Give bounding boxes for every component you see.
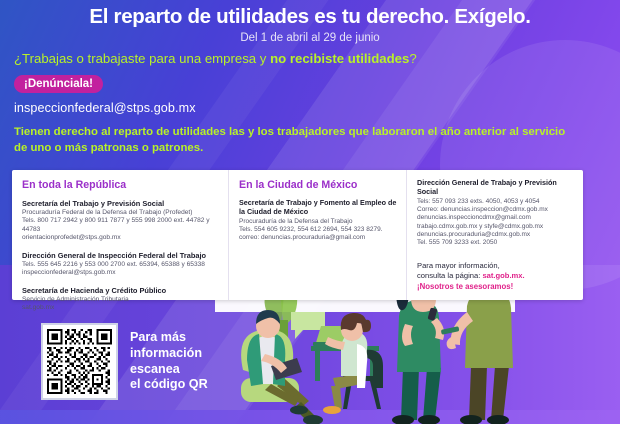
question-end: ?	[409, 51, 416, 66]
qr-line-2: información	[130, 346, 208, 362]
contacts-column-dgtps: Dirección General de Trabajo y Previsión…	[406, 170, 583, 300]
header: El reparto de utilidades es tu derecho. …	[0, 0, 620, 156]
more-info-line-1: Para mayor información,	[417, 261, 575, 271]
denunciala-badge[interactable]: ¡Denúnciala!	[14, 75, 103, 93]
date-range: Del 1 de abril al 29 de junio	[14, 32, 606, 44]
entry-line: Tels. 555 645 2216 y 553 000 2700 ext. 6…	[22, 261, 220, 269]
entry-website[interactable]: sat.gob.mx	[22, 304, 220, 312]
woman2-leg-left	[401, 368, 419, 420]
entry-line: Procuraduría Federal de la Defensa del T…	[22, 209, 220, 217]
contact-email[interactable]: inspeccionfederal@stps.gob.mx	[14, 101, 606, 115]
qr-code-svg	[47, 329, 112, 394]
entry-email[interactable]: inspeccionfederal@stps.gob.mx	[22, 269, 220, 277]
question-part1: ¿Trabajas o trabajaste para una empresa …	[14, 51, 270, 66]
more-info-cta: ¡Nosotros te asesoramos!	[417, 282, 575, 291]
contact-entry: Secretaría del Trabajo y Previsión Socia…	[22, 199, 220, 243]
more-info-line-2: consulta la página: sat.gob.mx.	[417, 271, 575, 281]
entry-line: Tels. 554 605 9232, 554 612 2694, 554 32…	[239, 226, 398, 234]
entry-email[interactable]: denuncias.inspeccioncdmx@gmail.com	[417, 214, 575, 222]
rights-statement: Tienen derecho al reparto de utilidades …	[14, 125, 574, 156]
question-line: ¿Trabajas o trabajaste para una empresa …	[14, 51, 606, 67]
entry-name: Secretaría de Hacienda y Crédito Público	[22, 286, 220, 295]
entry-name: Secretaría del Trabajo y Previsión Socia…	[22, 199, 220, 208]
poster-root: El reparto de utilidades es tu derecho. …	[0, 0, 620, 424]
contact-entry: Secretaría de Trabajo y Fomento al Emple…	[239, 199, 398, 243]
column-title-cdmx: En la Ciudad de México	[239, 179, 398, 191]
qr-line-3: escanea	[130, 362, 208, 378]
contacts-card: En toda la República Secretaría del Trab…	[12, 170, 583, 300]
more-info-link[interactable]: sat.gob.mx.	[482, 271, 524, 280]
entry-email[interactable]: correo: denuncias.procuraduria@gmail.com	[239, 234, 398, 242]
entry-name: Dirección General de Trabajo y Previsión…	[417, 179, 575, 197]
man1-shoe-2	[290, 406, 308, 415]
entry-email[interactable]: Correo: denuncias.inspeccion@cdmx.gob.mx	[417, 206, 575, 214]
contact-entry: Dirección General de Inspección Federal …	[22, 251, 220, 278]
entry-name: Secretaría de Trabajo y Fomento al Emple…	[239, 199, 398, 217]
contacts-column-cdmx: En la Ciudad de México Secretaría de Tra…	[228, 170, 406, 300]
more-info-block: Para mayor información, consulta la pági…	[417, 261, 575, 291]
entry-line: Tel. 555 709 3233 ext. 2050	[417, 239, 575, 247]
entry-email[interactable]: orientacionprofedet@stps.gob.mx	[22, 234, 220, 242]
qr-line-4: el código QR	[130, 377, 208, 393]
entry-email[interactable]: denuncias.procuraduria@cdmx.gob.mx	[417, 231, 575, 239]
qr-line-1: Para más	[130, 330, 208, 346]
more-info-prefix: consulta la página:	[417, 271, 482, 280]
contacts-column-republica: En toda la República Secretaría del Trab…	[12, 170, 228, 300]
entry-line: Tels. 800 717 2942 y 800 911 7877 y 555 …	[22, 217, 220, 234]
entry-email[interactable]: trabajo.cdmx.gob.mx y styfe@cdmx.gob.mx	[417, 223, 575, 231]
column-title-republica: En toda la República	[22, 179, 220, 191]
man2-shirt	[465, 288, 513, 368]
qr-block: Para más información escanea el código Q…	[41, 323, 208, 400]
question-bold: no recibiste utilidades	[270, 51, 409, 66]
contact-entry: Dirección General de Trabajo y Previsión…	[417, 179, 575, 247]
headline: El reparto de utilidades es tu derecho. …	[14, 6, 606, 29]
entry-name: Dirección General de Inspección Federal …	[22, 251, 220, 260]
man2-leg-left	[469, 366, 487, 420]
woman1-shoe	[323, 406, 341, 414]
qr-instruction-text: Para más información escanea el código Q…	[130, 330, 208, 393]
entry-line: Procuraduría de la Defensa del Trabajo	[239, 218, 398, 226]
entry-line: Tels: 557 093 233 exts. 4050, 4053 y 405…	[417, 198, 575, 206]
contact-entry: Secretaría de Hacienda y Crédito Público…	[22, 286, 220, 313]
entry-line: Servicio de Administración Tributaria	[22, 296, 220, 304]
desk-leg-left	[315, 351, 320, 381]
qr-code-icon[interactable]	[41, 323, 118, 400]
